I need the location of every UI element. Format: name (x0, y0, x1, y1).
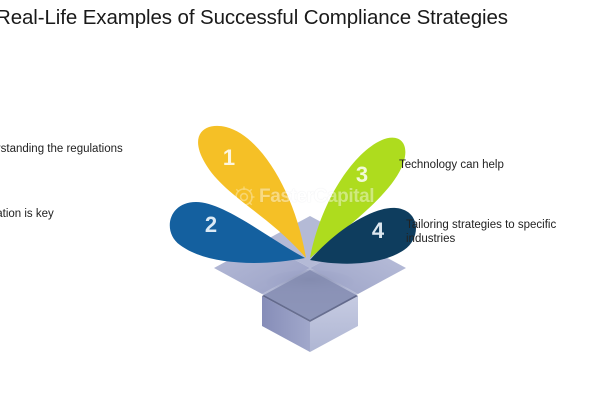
slide-canvas: Real-Life Examples of Successful Complia… (0, 0, 600, 400)
petal-label-2: oration is key (0, 207, 54, 221)
petal-label-4: Tailoring strategies to specific industr… (406, 218, 576, 246)
petal-number-4: 4 (372, 218, 385, 243)
petal-number-2: 2 (205, 212, 217, 237)
diagram-svg: 1 3 2 4 (0, 0, 600, 400)
petal-label-1: derstanding the regulations (0, 142, 123, 156)
petal-number-3: 3 (356, 162, 368, 187)
petal-number-1: 1 (223, 145, 235, 170)
petal-diagram: 1 3 2 4 (0, 0, 600, 400)
petal-label-3: Technology can help (399, 158, 504, 172)
